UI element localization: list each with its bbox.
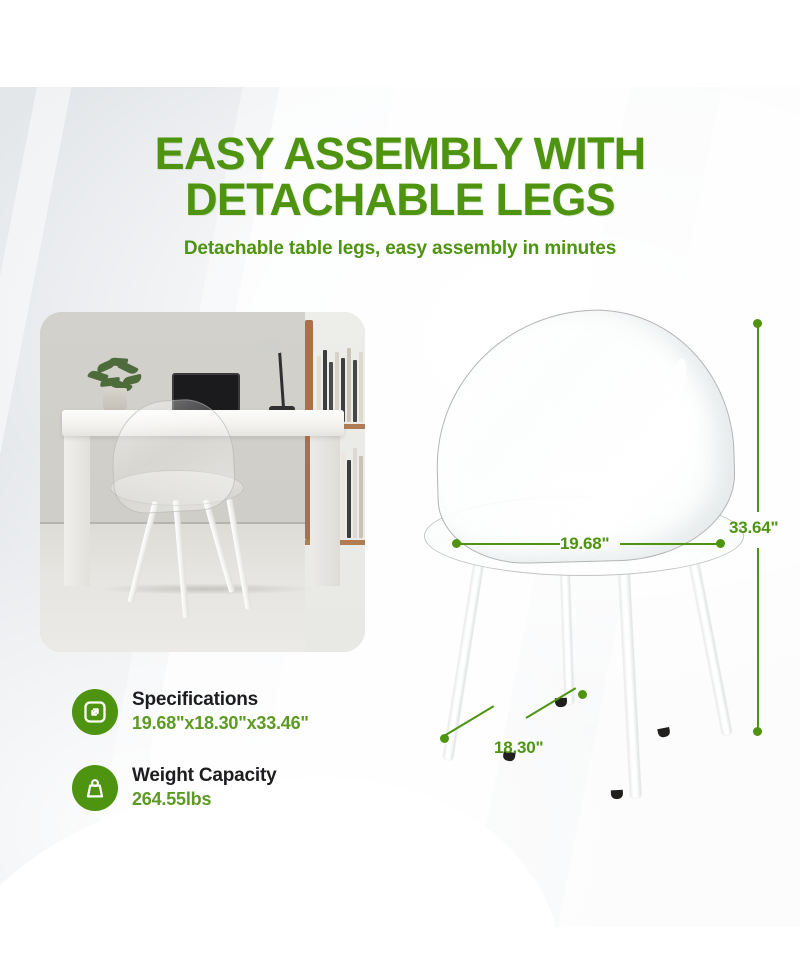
dimension-label-height: 33.64": [729, 518, 778, 538]
dimension-label-depth: 18.30": [494, 738, 543, 758]
headline-line-1: EASY ASSEMBLY WITH: [155, 128, 646, 179]
dimension-endpoint-width-right: [716, 539, 725, 548]
plant-pot: [103, 388, 127, 411]
dimension-endpoint-depth-left: [440, 734, 449, 743]
lifestyle-photo: [40, 312, 365, 652]
dimension-label-width: 19.68": [560, 534, 609, 554]
dimension-line-height: [757, 548, 759, 732]
chair-foot-front-right: [611, 790, 623, 800]
page-title: EASY ASSEMBLY WITH DETACHABLE LEGS: [0, 131, 800, 223]
spec-text-block: Specifications 19.68"x18.30"x33.46": [132, 688, 309, 735]
desk-leg-right: [310, 434, 340, 586]
chair-backrest: [433, 306, 737, 566]
chair-leg-rear-right: [688, 557, 732, 736]
dimension-endpoint-width-left: [452, 539, 461, 548]
dimension-line-height: [757, 326, 759, 512]
spec-title: Specifications: [132, 688, 309, 711]
spec-row-weight-capacity: Weight Capacity 264.55lbs: [72, 764, 276, 811]
chair-leg-rear-left: [560, 558, 574, 704]
resize-expand-icon: [72, 689, 118, 735]
weight-icon: [72, 765, 118, 811]
chair-leg-front-right: [618, 562, 641, 798]
dimension-endpoint-depth-right: [578, 690, 587, 699]
product-chair-image: [400, 300, 800, 860]
desk-shadow: [70, 582, 340, 596]
desk-lamp-head: [256, 340, 282, 353]
dimension-line-width: [456, 543, 560, 545]
dimension-endpoint-height-top: [753, 319, 762, 328]
product-infographic: EASY ASSEMBLY WITH DETACHABLE LEGS Detac…: [0, 0, 800, 977]
desk-leg-left: [64, 434, 90, 586]
spec-text-block: Weight Capacity 264.55lbs: [132, 764, 276, 811]
spec-title: Weight Capacity: [132, 764, 276, 787]
headline-line-2: DETACHABLE LEGS: [0, 177, 800, 223]
dimension-line-width: [620, 543, 720, 545]
chair-foot-rear-right: [657, 727, 670, 738]
spec-row-specifications: Specifications 19.68"x18.30"x33.46": [72, 688, 309, 735]
spec-value: 19.68"x18.30"x33.46": [132, 711, 309, 735]
dimension-endpoint-height-bottom: [753, 727, 762, 736]
page-subtitle: Detachable table legs, easy assembly in …: [0, 238, 800, 260]
spec-value: 264.55lbs: [132, 787, 276, 811]
